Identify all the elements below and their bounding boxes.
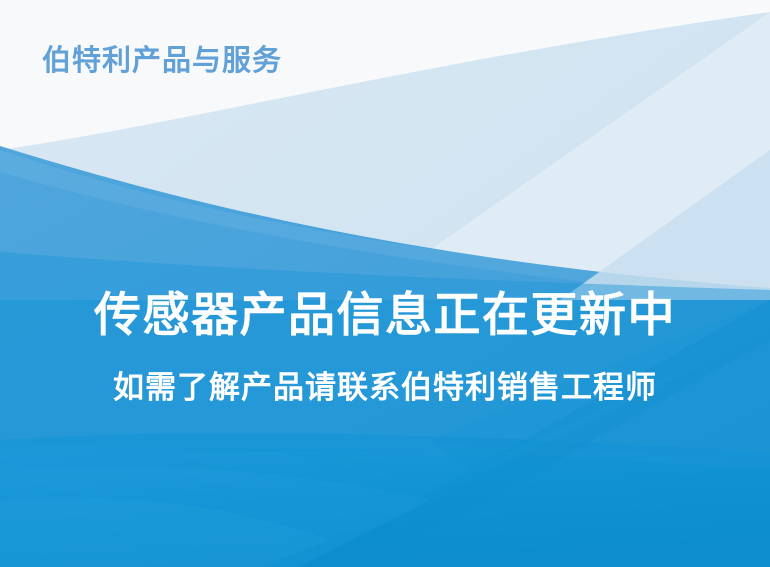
background-decoration [0,0,770,567]
header-title: 伯特利产品与服务 [42,44,282,77]
main-title: 传感器产品信息正在更新中 [0,290,770,343]
sub-title: 如需了解产品请联系伯特利销售工程师 [0,371,770,407]
product-service-banner: 伯特利产品与服务 传感器产品信息正在更新中 如需了解产品请联系伯特利销售工程师 [0,0,770,567]
banner-header: 伯特利产品与服务 [42,44,282,77]
banner-message: 传感器产品信息正在更新中 如需了解产品请联系伯特利销售工程师 [0,290,770,406]
